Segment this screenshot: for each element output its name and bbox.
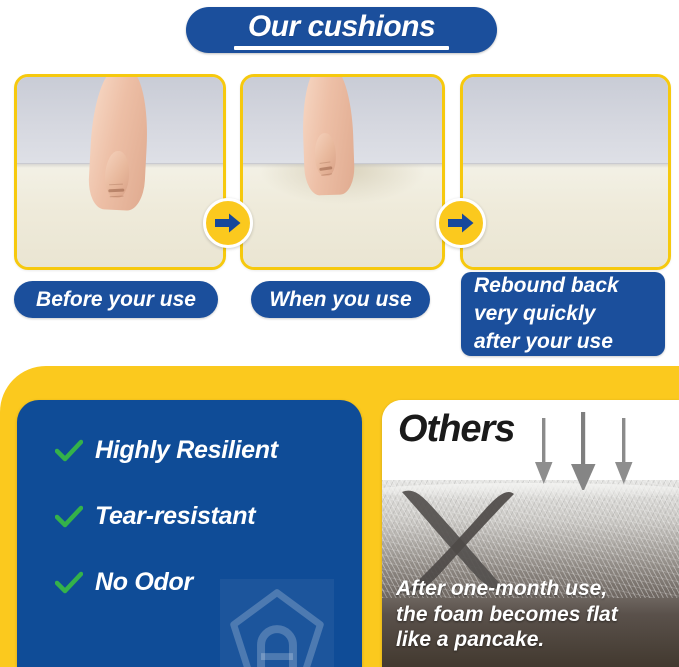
foam-scene-rebound <box>463 77 668 267</box>
foam-scene-pressing <box>243 77 442 267</box>
photo-panel-pressing <box>240 74 445 270</box>
check-icon <box>55 505 83 529</box>
benefit-item: Tear-resistant <box>55 502 345 531</box>
arrow-down-icon-group <box>530 412 650 495</box>
arrow-right-icon <box>203 198 253 248</box>
knuckle-lines <box>319 166 333 171</box>
others-title: Others <box>398 410 514 448</box>
page-title-banner: Our cushions <box>186 7 497 53</box>
benefit-label: No Odor <box>95 568 193 597</box>
fist-shape <box>104 150 131 199</box>
step-label-before-text: Before your use <box>36 288 196 312</box>
step-label-when-text: When you use <box>269 288 411 312</box>
pentagon-house-logo-icon <box>220 579 334 667</box>
foam-scene-before <box>17 77 223 267</box>
others-caption: After one-month use, the foam becomes fl… <box>396 576 671 653</box>
pentagon-house-logo-glyph <box>220 579 334 667</box>
others-comparison-panel: Others After one-month use, the foam bec… <box>382 400 679 667</box>
foam-edge <box>463 163 668 168</box>
others-caption-line-2: the foam becomes flat <box>396 602 671 628</box>
arm-shape <box>300 74 354 196</box>
fist-shape <box>314 133 336 176</box>
benefit-label: Highly Resilient <box>95 436 278 465</box>
others-caption-line-1: After one-month use, <box>396 576 671 602</box>
arrow-down-icon <box>530 412 650 490</box>
arrow-right-glyph <box>448 213 474 233</box>
step-label-rebound-line-1: Rebound back <box>474 272 619 300</box>
scene-background <box>463 77 668 168</box>
step-label-rebound-line-3: after your use <box>474 328 613 356</box>
foam-surface-flat <box>463 164 668 267</box>
others-caption-line-3: like a pancake. <box>396 627 671 653</box>
benefit-label: Tear-resistant <box>95 502 255 531</box>
check-icon <box>55 439 83 463</box>
benefit-item: Highly Resilient <box>55 436 345 465</box>
arrow-right-glyph <box>215 213 241 233</box>
photo-panel-rebound <box>460 74 671 270</box>
benefits-card: Highly Resilient Tear-resistant No Odor <box>17 400 362 667</box>
step-label-before: Before your use <box>14 281 218 318</box>
step-label-rebound-line-2: very quickly <box>474 300 595 328</box>
check-icon <box>55 571 83 595</box>
step-label-rebound: Rebound back very quickly after your use <box>461 272 665 356</box>
photo-panel-before <box>14 74 226 270</box>
demo-photo-row <box>0 62 679 272</box>
page-title: Our cushions <box>248 12 435 42</box>
infographic-root: Our cushions <box>0 0 679 667</box>
title-underline <box>234 46 449 50</box>
step-label-when: When you use <box>251 281 430 318</box>
arrow-right-icon <box>436 198 486 248</box>
knuckle-lines <box>108 189 124 193</box>
